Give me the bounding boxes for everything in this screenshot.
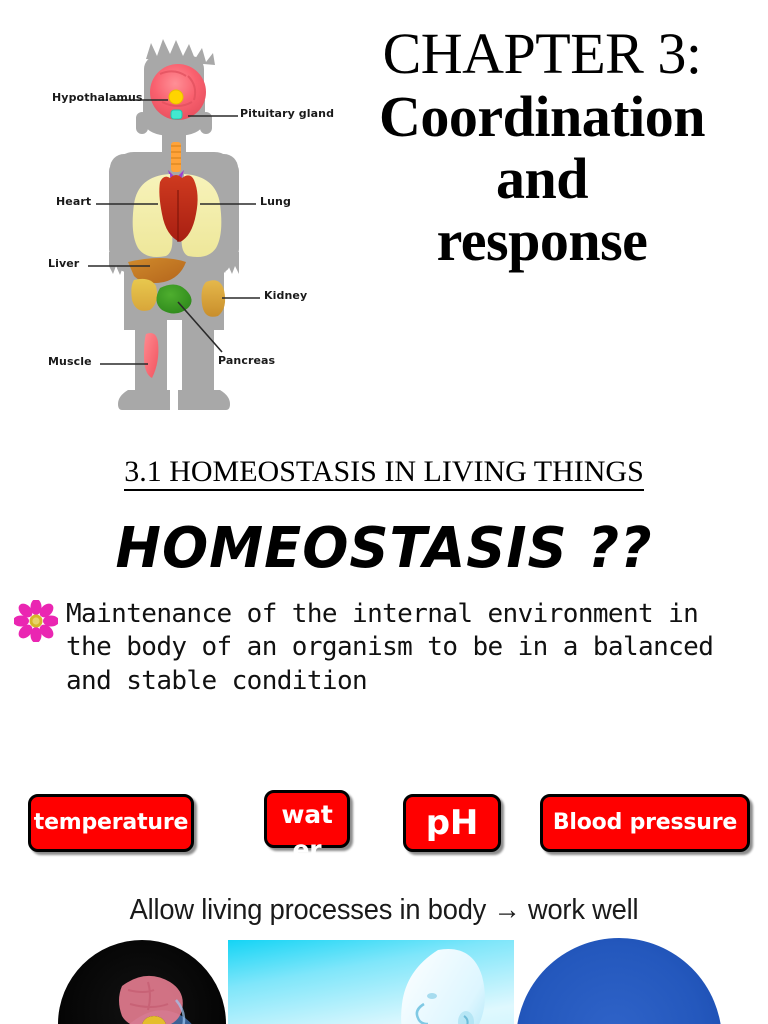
physical-activity-photo: [516, 938, 722, 1024]
factor-box-ph-label: pH: [426, 806, 478, 840]
stomach-organ: [131, 279, 157, 311]
organ-label-pancreas: Pancreas: [218, 354, 275, 367]
chapter-number-text: CHAPTER 3:: [322, 24, 762, 84]
definition-block: Maintenance of the internal environment …: [14, 598, 754, 698]
pituitary-marker: [171, 110, 182, 119]
section-heading: 3.1 HOMEOSTASIS IN LIVING THINGS: [0, 455, 768, 489]
factor-box-water-label: water: [278, 798, 336, 867]
factor-box-blood-pressure-label: Blood pressure: [553, 812, 737, 834]
factor-box-blood-pressure[interactable]: Blood pressure: [540, 794, 750, 852]
bottom-image-strip: [0, 932, 768, 1024]
homeostasis-question-heading: HOMEOSTASIS ??: [12, 516, 757, 581]
organ-label-kidney: Kidney: [264, 289, 307, 302]
factor-box-water[interactable]: water: [264, 790, 350, 848]
factor-box-temperature-label: temperature: [34, 812, 188, 834]
organ-label-hypothalamus: Hypothalamus: [52, 91, 143, 104]
homeostasis-factor-boxes: temperature water pH Blood pressure: [0, 790, 768, 866]
chapter-title-line-2: and: [322, 148, 762, 210]
human-body-organ-diagram: Hypothalamus Pituitary gland Heart Lung …: [10, 34, 340, 424]
organ-label-lung: Lung: [260, 195, 291, 208]
organ-label-heart: Heart: [56, 195, 91, 208]
flower-icon: [14, 600, 58, 642]
slide-canvas: Hypothalamus Pituitary gland Heart Lung …: [0, 0, 768, 1024]
nervous-system-photo: [58, 940, 226, 1024]
definition-text: Maintenance of the internal environment …: [66, 598, 738, 698]
organ-label-liver: Liver: [48, 257, 79, 270]
conclusion-text: Allow living processes in body → work we…: [23, 894, 745, 927]
chapter-title-line-1: Coordination: [322, 86, 762, 148]
chapter-title-block: CHAPTER 3: Coordination and response: [322, 24, 762, 272]
organ-label-muscle: Muscle: [48, 355, 92, 368]
factor-box-ph[interactable]: pH: [403, 794, 501, 852]
factor-box-temperature[interactable]: temperature: [28, 794, 194, 852]
chapter-title-text: Coordination and response: [322, 86, 762, 272]
respiratory-system-photo: [228, 940, 514, 1024]
kidney-organ: [202, 280, 226, 317]
section-heading-text: 3.1 HOMEOSTASIS IN LIVING THINGS: [124, 455, 644, 491]
hypothalamus-marker: [169, 90, 183, 104]
organ-label-pituitary-gland: Pituitary gland: [240, 107, 334, 120]
chapter-title-line-3: response: [322, 210, 762, 272]
